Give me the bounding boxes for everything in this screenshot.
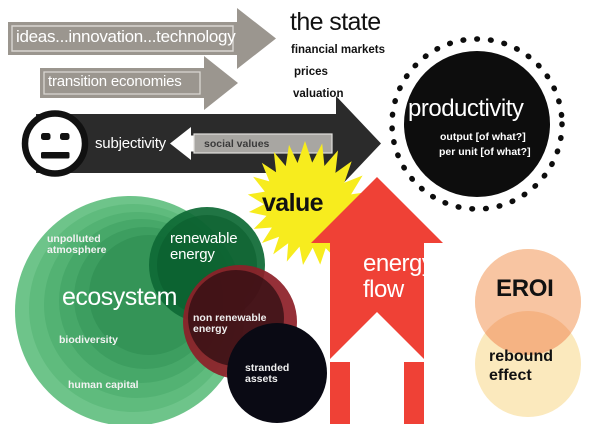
label-non-renewable-line1: non renewable — [193, 312, 267, 324]
label-energy-line1: energy — [363, 250, 433, 277]
label-rebound-line1: rebound — [489, 348, 553, 365]
label-eroi: EROI — [496, 276, 553, 302]
label-renewable-energy: renewableenergy — [170, 231, 237, 263]
diagram-canvas: ideas...innovation...technology transiti… — [0, 0, 600, 424]
label-financial-markets: financial markets — [291, 44, 385, 56]
label-energy-flow: energyflow — [363, 251, 433, 303]
label-stranded-line2: assets — [245, 373, 278, 385]
label-rebound-effect: reboundeffect — [489, 348, 553, 386]
label-value: value — [262, 190, 323, 217]
label-biodiversity: biodiversity — [59, 335, 118, 346]
label-stranded-assets: strandedassets — [245, 363, 289, 386]
label-non-renewable-line2: energy — [193, 323, 227, 335]
label-productivity-output: output [of what?] — [440, 132, 526, 143]
label-valuation: valuation — [293, 88, 343, 100]
neutral-face-icon — [25, 114, 85, 174]
label-productivity-per-unit: per unit [of what?] — [439, 147, 531, 158]
label-renewable-line2: energy — [170, 246, 215, 263]
label-social-values: social values — [204, 139, 269, 150]
label-the-state: the state — [290, 9, 381, 36]
label-unpolluted-atmosphere: unpollutedatmosphere — [47, 234, 107, 257]
label-unpolluted-line1: unpolluted — [47, 233, 101, 245]
label-energy-line2: flow — [363, 276, 404, 303]
label-transition-economies: transition economies — [48, 74, 182, 90]
label-rebound-line2: effect — [489, 367, 532, 384]
label-productivity: productivity — [408, 96, 523, 122]
label-human-capital: human capital — [68, 380, 139, 391]
label-stranded-line1: stranded — [245, 362, 289, 374]
label-non-renewable-energy: non renewableenergy — [193, 313, 267, 336]
label-unpolluted-line2: atmosphere — [47, 244, 107, 256]
label-ecosystem: ecosystem — [62, 284, 177, 311]
label-renewable-line1: renewable — [170, 230, 237, 247]
label-prices: prices — [294, 66, 328, 78]
label-ideas-innovation-technology: ideas...innovation...technology — [16, 28, 235, 46]
productivity-circle — [392, 39, 562, 209]
label-subjectivity: subjectivity — [95, 136, 166, 152]
